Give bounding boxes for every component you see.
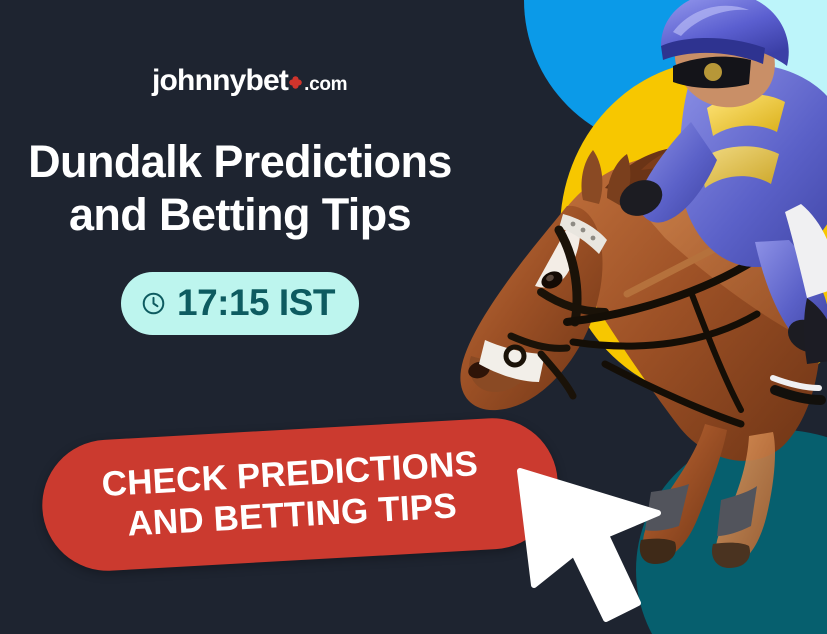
race-time-label: 17:15 IST: [177, 284, 335, 321]
promo-banner: johnnybet .com Dundalk Predictions and B…: [0, 0, 827, 634]
page-title: Dundalk Predictions and Betting Tips: [0, 136, 480, 241]
clover-mark-icon: [289, 76, 302, 89]
headline-line-1: Dundalk Predictions: [28, 136, 452, 187]
cta-button-label: CHECK PREDICTIONS AND BETTING TIPS: [95, 443, 506, 547]
headline-line-2: and Betting Tips: [69, 189, 411, 240]
logo-tld: .com: [304, 75, 347, 94]
johnnybet-logo[interactable]: johnnybet .com: [152, 66, 347, 104]
mouse-pointer-icon: [500, 455, 690, 634]
logo-wordmark: johnnybet: [152, 66, 288, 96]
clock-icon: [141, 291, 166, 316]
race-time-badge: 17:15 IST: [121, 272, 359, 335]
